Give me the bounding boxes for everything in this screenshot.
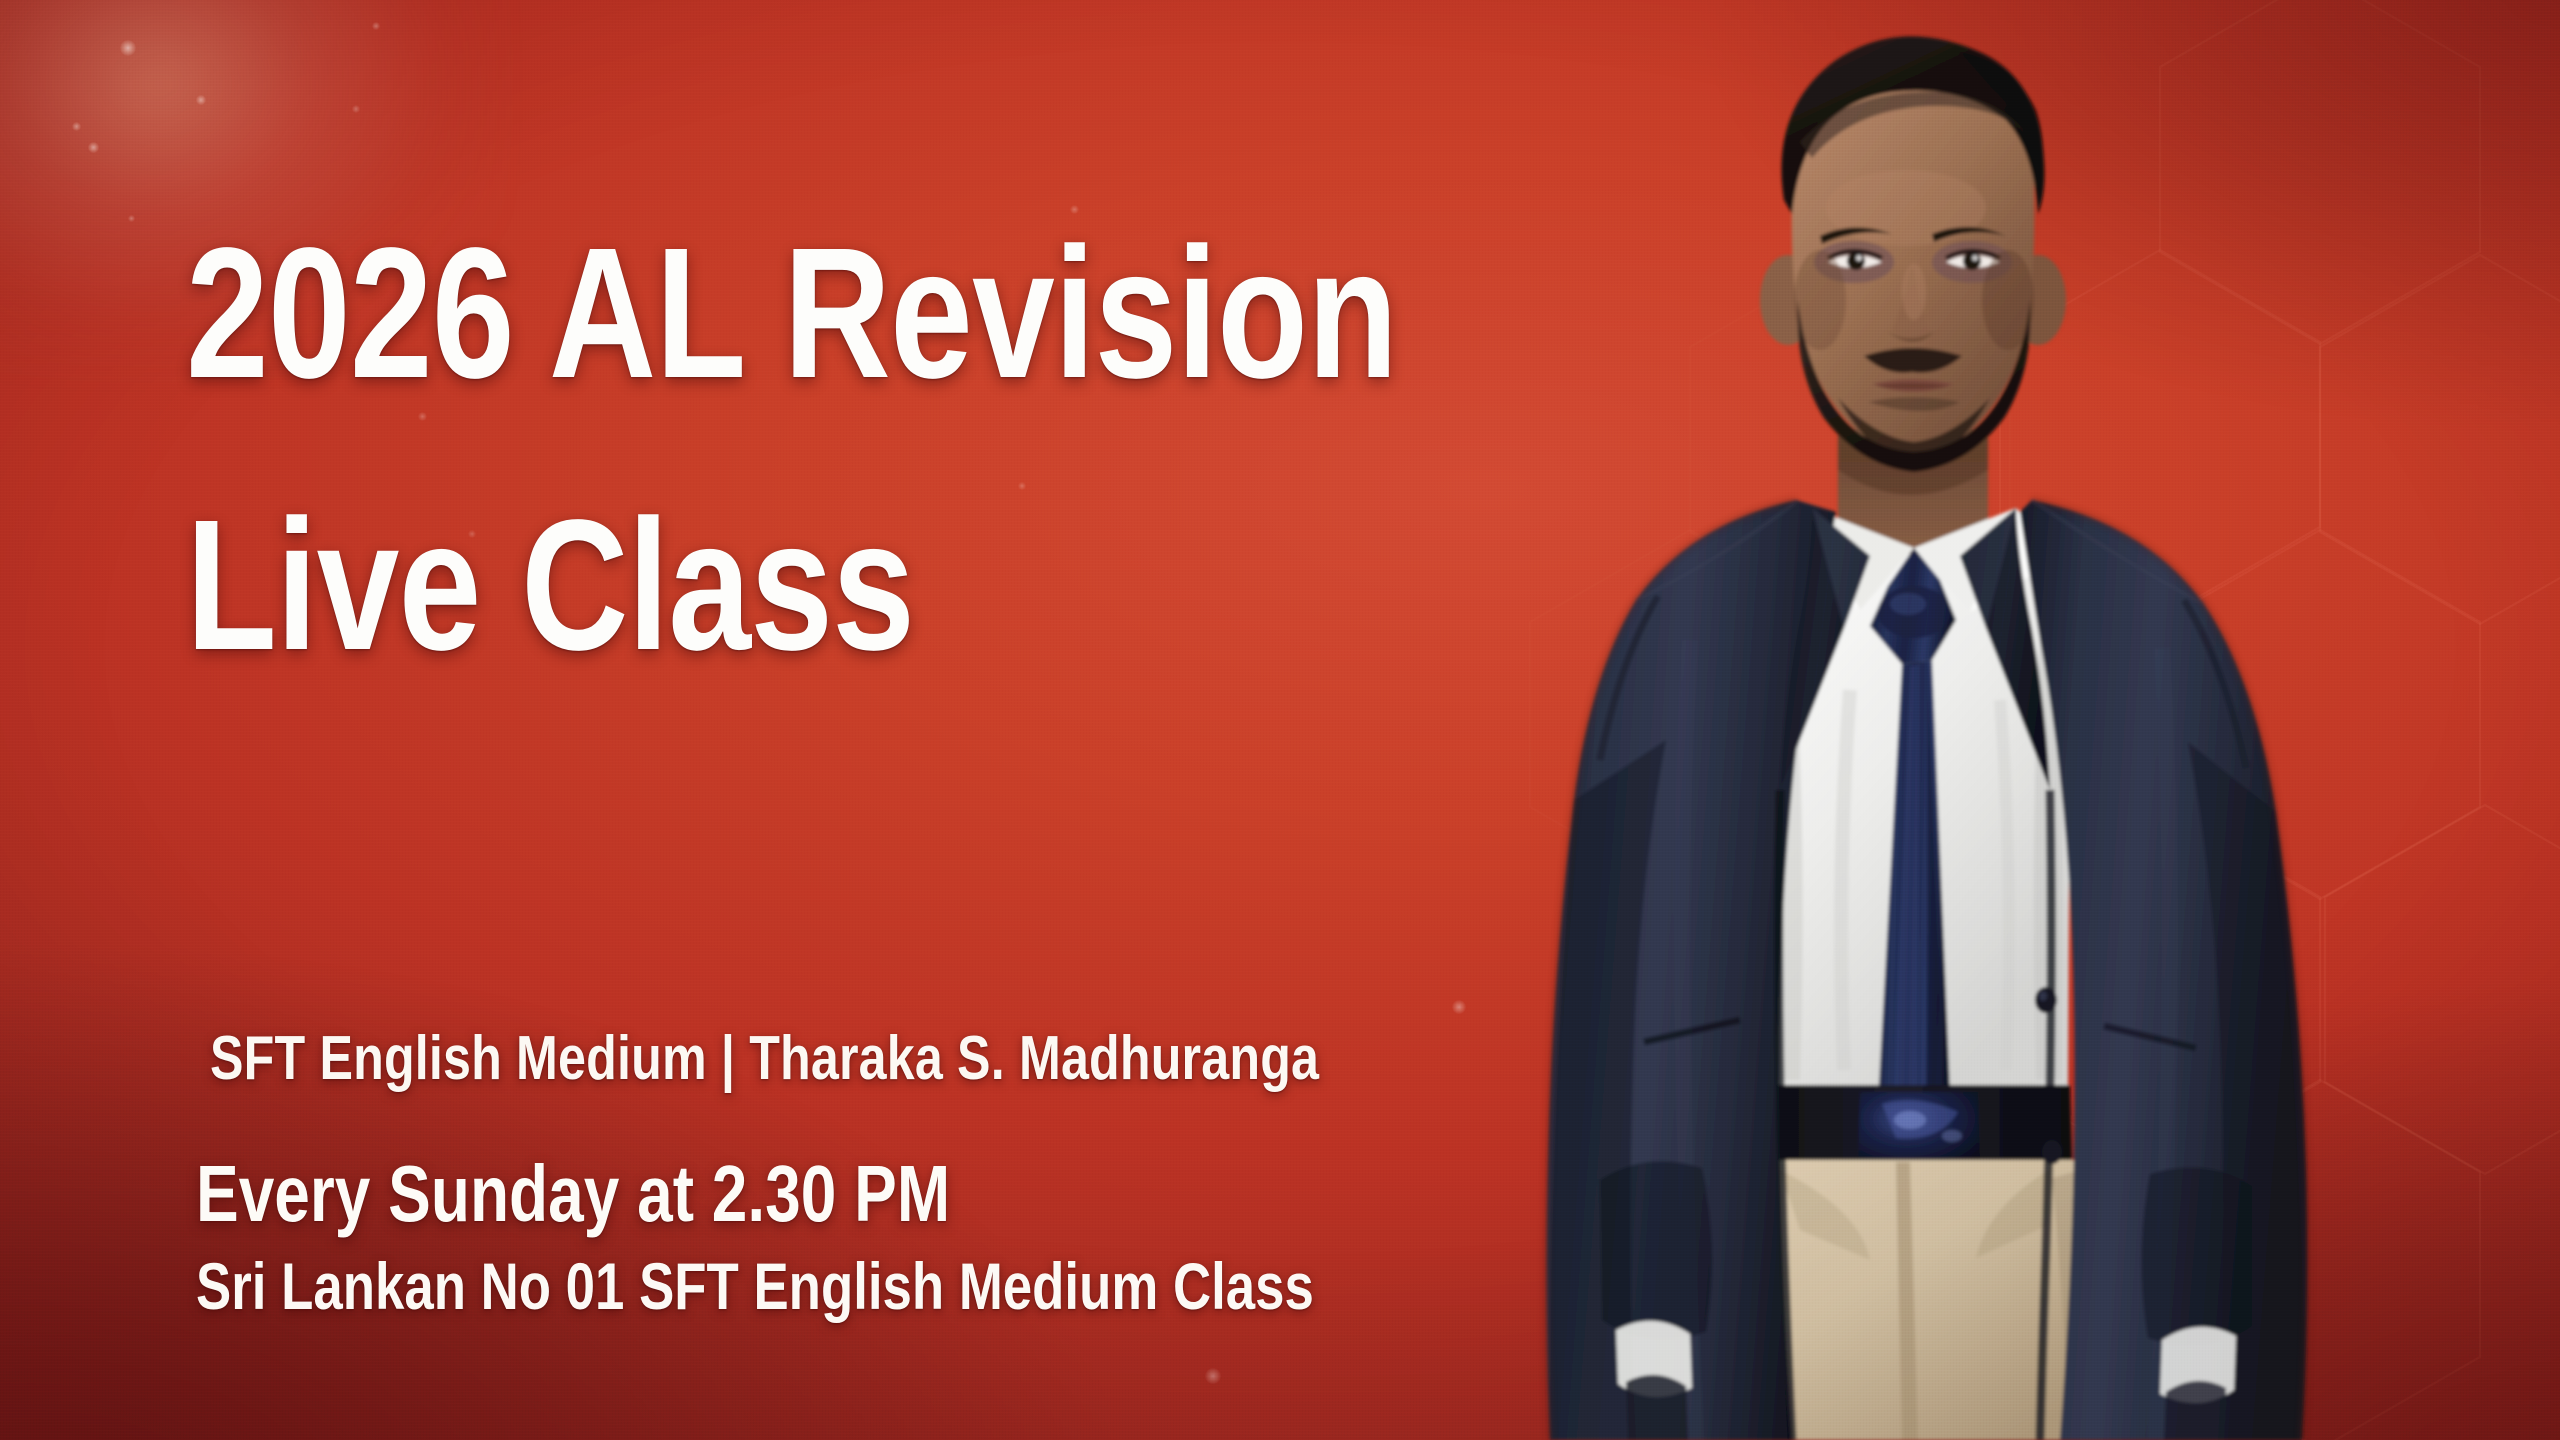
text-block: 2026 AL Revision Live Class SFT English … xyxy=(0,0,1560,1440)
headline-line-1: 2026 AL Revision xyxy=(186,178,1242,450)
headline-line-2: Live Class xyxy=(186,450,1242,722)
tagline-line: Sri Lankan No 01 SFT English Medium Clas… xyxy=(196,1252,1314,1322)
promo-banner: 2026 AL Revision Live Class SFT English … xyxy=(0,0,2560,1440)
presenter-subject-line: SFT English Medium | Tharaka S. Madhuran… xyxy=(210,1025,1319,1093)
page-title: 2026 AL Revision Live Class xyxy=(186,178,1242,721)
schedule-line: Every Sunday at 2.30 PM xyxy=(196,1152,950,1237)
